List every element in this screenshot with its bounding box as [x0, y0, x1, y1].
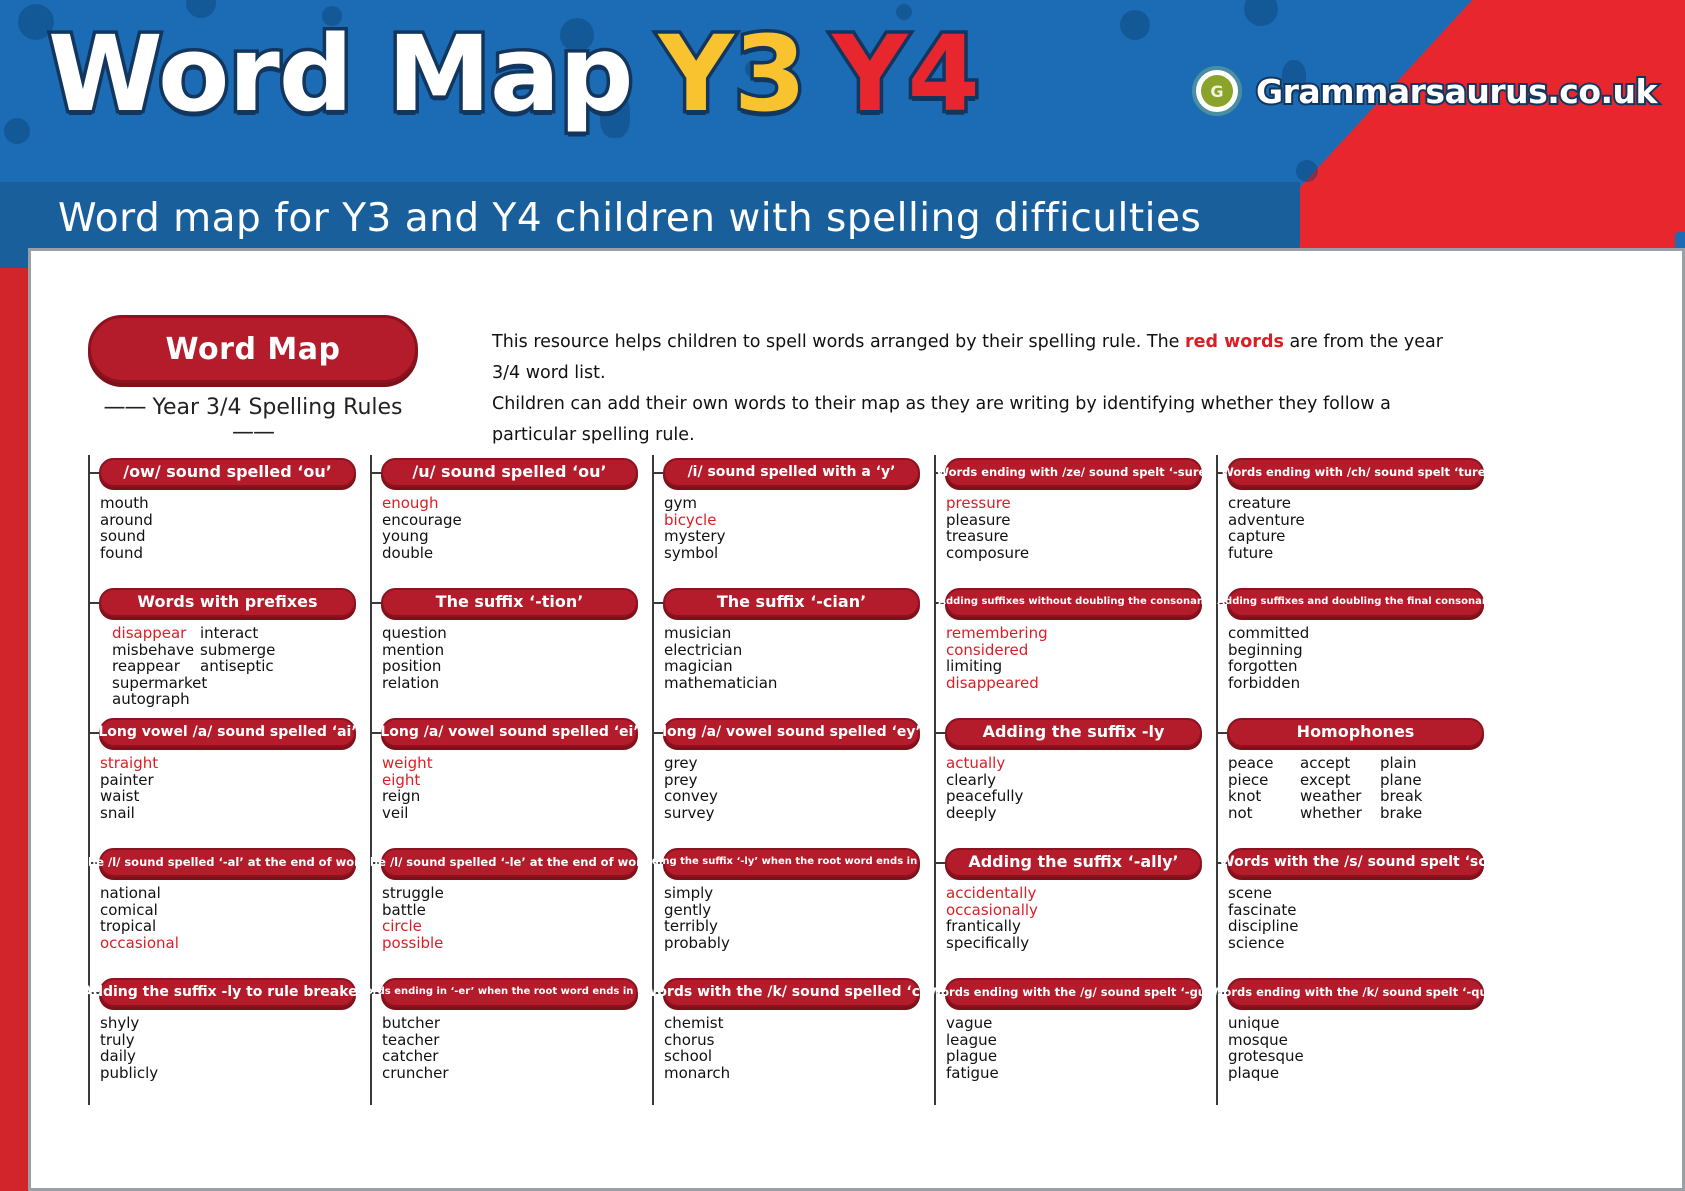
- word-item: mention: [382, 642, 638, 659]
- rule-card[interactable]: The /l/ sound spelled ‘-al’ at the end o…: [88, 845, 356, 975]
- word-item: weight: [382, 755, 638, 772]
- card-vertical-rule: [370, 715, 372, 845]
- rule-title-pill[interactable]: The /l/ sound spelled ‘-le’ at the end o…: [381, 848, 638, 877]
- word-item: symbol: [664, 545, 920, 562]
- rule-card[interactable]: /u/ sound spelled ‘ou’enoughencourageyou…: [370, 455, 638, 585]
- rule-title-pill[interactable]: Adding the suffix ‘-ly’ when the root wo…: [663, 848, 920, 877]
- rule-title-pill[interactable]: Words with the /k/ sound spelled ‘ch.’: [663, 978, 920, 1007]
- rule-title-label: Words with prefixes: [137, 594, 317, 611]
- word-item: teacher: [382, 1032, 638, 1049]
- rule-row: Long vowel /a/ sound spelled ‘ai’straigh…: [88, 715, 1488, 845]
- word-item: plaque: [1228, 1065, 1484, 1082]
- word-list: nationalcomicaltropicaloccasional: [100, 885, 356, 951]
- rule-card[interactable]: Words with the /s/ sound spelt ‘sc’scene…: [1216, 845, 1484, 975]
- rule-title-pill[interactable]: /i/ sound spelled with a ‘y’: [663, 458, 920, 487]
- word-item: grotesque: [1228, 1048, 1484, 1065]
- rule-title-pill[interactable]: Words ending in ‘-er’ when the root word…: [381, 978, 638, 1007]
- rule-card[interactable]: Adding the suffix ‘-ally’accidentallyocc…: [934, 845, 1202, 975]
- rule-card[interactable]: The suffix ‘-cian’musicianelectricianmag…: [652, 585, 920, 715]
- rule-title-pill[interactable]: Adding suffixes without doubling the con…: [945, 588, 1202, 617]
- word-map-badge-label: Word Map: [166, 332, 341, 367]
- intro-paragraph: This resource helps children to spell wo…: [492, 327, 1452, 451]
- caption-dash-right: ——: [232, 420, 274, 445]
- word-item: plain: [1380, 755, 1450, 772]
- word-item: question: [382, 625, 638, 642]
- word-item: comical: [100, 902, 356, 919]
- card-vertical-rule: [370, 585, 372, 715]
- poster-subtitle: Word map for Y3 and Y4 children with spe…: [58, 196, 1201, 241]
- rule-card[interactable]: Adding the suffix ‘-ly’ when the root wo…: [652, 845, 920, 975]
- word-item: plague: [946, 1048, 1202, 1065]
- word-item: not: [1228, 805, 1296, 822]
- rule-title-pill[interactable]: /ow/ sound spelled ‘ou’: [99, 458, 356, 487]
- rule-title-pill[interactable]: Words with prefixes: [99, 588, 356, 617]
- rule-title-pill[interactable]: Words with the /s/ sound spelt ‘sc’: [1227, 848, 1484, 877]
- word-item: disappeared: [946, 675, 1202, 692]
- word-list: enoughencourageyoungdouble: [382, 495, 638, 561]
- rule-title-label: Long /a/ vowel sound spelled ‘ei’: [380, 725, 638, 740]
- rule-title-pill[interactable]: Adding the suffix -ly to rule breakers: [99, 978, 356, 1007]
- rule-card[interactable]: Adding suffixes and doubling the final c…: [1216, 585, 1484, 715]
- rule-title-pill[interactable]: Long /a/ vowel sound spelled ‘ei’: [381, 718, 638, 747]
- word-list: questionmentionpositionrelation: [382, 625, 638, 691]
- word-list: moutharoundsoundfound: [100, 495, 356, 561]
- word-item: pressure: [946, 495, 1202, 512]
- word-item: fatigue: [946, 1065, 1202, 1082]
- card-vertical-rule: [934, 845, 936, 975]
- rule-title-label: Adding suffixes and doubling the final c…: [1217, 597, 1493, 608]
- word-item: daily: [100, 1048, 356, 1065]
- word-item: mathematician: [664, 675, 920, 692]
- word-item: piece: [1228, 772, 1296, 789]
- rule-title-pill[interactable]: Words ending with /ze/ sound spelt ‘-sur…: [945, 458, 1202, 487]
- word-item: beginning: [1228, 642, 1484, 659]
- word-item: shyly: [100, 1015, 356, 1032]
- word-item: veil: [382, 805, 638, 822]
- word-item: reappear: [112, 658, 196, 675]
- word-list: committedbeginningforgottenforbidden: [1228, 625, 1484, 691]
- word-item: struggle: [382, 885, 638, 902]
- word-item: accept: [1300, 755, 1376, 772]
- word-item: considered: [946, 642, 1202, 659]
- grammarsaurus-icon: G: [1192, 66, 1242, 116]
- rule-title-pill[interactable]: The suffix ‘-cian’: [663, 588, 920, 617]
- intro-line-1: This resource helps children to spell wo…: [492, 327, 1452, 389]
- rule-card[interactable]: Adding the suffix -lyactuallyclearlypeac…: [934, 715, 1202, 845]
- year-rules-caption: —— Year 3/4 Spelling Rules ——: [88, 395, 418, 445]
- rule-title-label: The /l/ sound spelled ‘-al’ at the end o…: [80, 856, 375, 868]
- word-item: catcher: [382, 1048, 638, 1065]
- rule-title-pill[interactable]: The /l/ sound spelled ‘-al’ at the end o…: [99, 848, 356, 877]
- title-y4: Y4: [832, 22, 980, 126]
- word-item: accidentally: [946, 885, 1202, 902]
- rule-title-label: long /a/ vowel sound spelled ‘ey’: [662, 725, 921, 740]
- word-item: treasure: [946, 528, 1202, 545]
- header-banner: Word Map Y3 Y4 Word map for Y3 and Y4 ch…: [0, 0, 1685, 268]
- word-list: pressurepleasuretreasurecomposure: [946, 495, 1202, 561]
- rule-card[interactable]: /ow/ sound spelled ‘ou’moutharoundsoundf…: [88, 455, 356, 585]
- word-item: specifically: [946, 935, 1202, 952]
- word-item: mouth: [100, 495, 356, 512]
- card-vertical-rule: [934, 715, 936, 845]
- spelling-rule-grid: /ow/ sound spelled ‘ou’moutharoundsoundf…: [88, 455, 1488, 1105]
- word-item: scene: [1228, 885, 1484, 902]
- word-item: encourage: [382, 512, 638, 529]
- word-list: simplygentlyterriblyprobably: [664, 885, 920, 951]
- rule-card[interactable]: Words ending in ‘-er’ when the root word…: [370, 975, 638, 1105]
- card-vertical-rule: [88, 585, 90, 715]
- word-item: tropical: [100, 918, 356, 935]
- word-item: straight: [100, 755, 356, 772]
- intro-line-2: Children can add their own words to thei…: [492, 389, 1452, 451]
- word-item: prey: [664, 772, 920, 789]
- word-map-badge: Word Map: [88, 315, 418, 383]
- word-list: disappearinteractmisbehavesubmergereappe…: [112, 625, 368, 708]
- rule-title-label: Words ending with the /k/ sound spelt ‘-…: [1211, 986, 1500, 998]
- word-item: except: [1300, 772, 1376, 789]
- word-item: break: [1380, 788, 1450, 805]
- rule-title-pill[interactable]: Homophones: [1227, 718, 1484, 747]
- word-item: remembering: [946, 625, 1202, 642]
- rule-title-pill[interactable]: Adding the suffix ‘-ally’: [945, 848, 1202, 877]
- word-item: cruncher: [382, 1065, 638, 1082]
- word-item: knot: [1228, 788, 1296, 805]
- word-item: fascinate: [1228, 902, 1484, 919]
- word-item: convey: [664, 788, 920, 805]
- rule-title-label: Adding the suffix ‘-ly’ when the root wo…: [637, 857, 946, 868]
- word-list: accidentallyoccasionallyfranticallyspeci…: [946, 885, 1202, 951]
- word-item: capture: [1228, 528, 1484, 545]
- rule-title-label: Homophones: [1297, 724, 1415, 741]
- word-item: electrician: [664, 642, 920, 659]
- intro-line-1-a: This resource helps children to spell wo…: [492, 332, 1185, 352]
- word-list: greypreyconveysurvey: [664, 755, 920, 821]
- rule-row: Words with prefixesdisappearinteractmisb…: [88, 585, 1488, 715]
- rule-title-pill[interactable]: Words ending with /ch/ sound spelt ‘ture…: [1227, 458, 1484, 487]
- word-item: antiseptic: [200, 658, 284, 675]
- word-list: straightpainterwaistsnail: [100, 755, 356, 821]
- word-item: butcher: [382, 1015, 638, 1032]
- left-nub-2: [37, 931, 53, 947]
- rule-card[interactable]: Long vowel /a/ sound spelled ‘ai’straigh…: [88, 715, 356, 845]
- poster-title: Word Map Y3 Y4: [48, 22, 980, 126]
- rule-title-pill[interactable]: long /a/ vowel sound spelled ‘ey’: [663, 718, 920, 747]
- word-item: submerge: [200, 642, 284, 659]
- poster-root: Word Map Y3 Y4 Word map for Y3 and Y4 ch…: [0, 0, 1685, 1191]
- word-item: circle: [382, 918, 638, 935]
- caption-dash-left: ——: [103, 395, 145, 420]
- word-item: composure: [946, 545, 1202, 562]
- rule-title-pill[interactable]: Long vowel /a/ sound spelled ‘ai’: [99, 718, 356, 747]
- word-item: survey: [664, 805, 920, 822]
- word-item: autograph: [112, 691, 196, 708]
- word-item: whether: [1300, 805, 1376, 822]
- rule-title-label: The suffix ‘-tion’: [436, 594, 584, 611]
- rule-card[interactable]: Words with the /k/ sound spelled ‘ch.’ch…: [652, 975, 920, 1105]
- rule-card[interactable]: Words ending with the /g/ sound spelt ‘-…: [934, 975, 1202, 1105]
- word-item: disappear: [112, 625, 196, 642]
- card-vertical-rule: [88, 455, 90, 585]
- word-list: gymbicyclemysterysymbol: [664, 495, 920, 561]
- rule-card[interactable]: Words ending with the /k/ sound spelt ‘-…: [1216, 975, 1484, 1105]
- word-item: battle: [382, 902, 638, 919]
- word-item: snail: [100, 805, 356, 822]
- word-item: brake: [1380, 805, 1450, 822]
- word-item: vague: [946, 1015, 1202, 1032]
- word-item: forbidden: [1228, 675, 1484, 692]
- brand-name: Grammarsaurus.co.uk: [1256, 72, 1657, 111]
- card-vertical-rule: [1216, 715, 1218, 845]
- word-item: around: [100, 512, 356, 529]
- word-item: frantically: [946, 918, 1202, 935]
- word-item: supermarket: [112, 675, 196, 692]
- card-vertical-rule: [1216, 845, 1218, 975]
- word-item: [200, 691, 284, 708]
- rule-title-pill[interactable]: /u/ sound spelled ‘ou’: [381, 458, 638, 487]
- rule-title-label: Words ending in ‘-er’ when the root word…: [355, 987, 664, 998]
- word-item: future: [1228, 545, 1484, 562]
- word-item: monarch: [664, 1065, 920, 1082]
- word-item: discipline: [1228, 918, 1484, 935]
- word-list: peacepieceknotnotacceptexceptweatherwhet…: [1228, 755, 1484, 821]
- word-list: chemistchorusschoolmonarch: [664, 1015, 920, 1081]
- word-list: butcherteachercatchercruncher: [382, 1015, 638, 1081]
- rule-title-label: Words ending with the /g/ sound spelt ‘-…: [929, 986, 1218, 998]
- word-item: league: [946, 1032, 1202, 1049]
- word-list: uniquemosquegrotesqueplaque: [1228, 1015, 1484, 1081]
- rule-card[interactable]: Long /a/ vowel sound spelled ‘ei’weighte…: [370, 715, 638, 845]
- word-item: found: [100, 545, 356, 562]
- rule-title-label: Words with the /s/ sound spelt ‘sc’: [1219, 855, 1492, 870]
- word-item: double: [382, 545, 638, 562]
- word-item: limiting: [946, 658, 1202, 675]
- word-item: painter: [100, 772, 356, 789]
- word-item: possible: [382, 935, 638, 952]
- word-item: mystery: [664, 528, 920, 545]
- word-list: weighteightreignveil: [382, 755, 638, 821]
- word-item: peace: [1228, 755, 1296, 772]
- word-item: peacefully: [946, 788, 1202, 805]
- rule-card[interactable]: Adding suffixes without doubling the con…: [934, 585, 1202, 715]
- left-nub-3: [37, 957, 53, 973]
- word-item: actually: [946, 755, 1202, 772]
- word-item: terribly: [664, 918, 920, 935]
- left-nub-1: [37, 377, 53, 393]
- rule-title-pill[interactable]: The suffix ‘-tion’: [381, 588, 638, 617]
- rule-title-label: Words ending with /ch/ sound spelt ‘ture…: [1221, 466, 1490, 478]
- word-list: vagueleagueplaguefatigue: [946, 1015, 1202, 1081]
- word-item: national: [100, 885, 356, 902]
- rule-title-label: Adding the suffix -ly: [983, 724, 1165, 741]
- rule-card[interactable]: Words ending with /ze/ sound spelt ‘-sur…: [934, 455, 1202, 585]
- word-item: pleasure: [946, 512, 1202, 529]
- word-list: rememberingconsideredlimitingdisappeared: [946, 625, 1202, 691]
- card-vertical-rule: [652, 455, 654, 585]
- word-item: waist: [100, 788, 356, 805]
- word-list: actuallyclearlypeacefullydeeply: [946, 755, 1202, 821]
- rule-title-label: Long vowel /a/ sound spelled ‘ai’: [98, 725, 356, 740]
- word-item: young: [382, 528, 638, 545]
- word-item: sound: [100, 528, 356, 545]
- rule-row: /ow/ sound spelled ‘ou’moutharoundsoundf…: [88, 455, 1488, 585]
- word-item: creature: [1228, 495, 1484, 512]
- rule-title-label: Words ending with /ze/ sound spelt ‘-sur…: [936, 466, 1210, 478]
- caption-text: Year 3/4 Spelling Rules: [152, 395, 402, 420]
- word-item: probably: [664, 935, 920, 952]
- brand-logo-group: G Grammarsaurus.co.uk: [1192, 66, 1657, 116]
- word-item: misbehave: [112, 642, 196, 659]
- card-vertical-rule: [652, 585, 654, 715]
- word-item: deeply: [946, 805, 1202, 822]
- rule-title-label: /u/ sound spelled ‘ou’: [412, 464, 606, 481]
- word-item: clearly: [946, 772, 1202, 789]
- word-item: unique: [1228, 1015, 1484, 1032]
- word-list: musicianelectricianmagicianmathematician: [664, 625, 920, 691]
- word-item: interact: [200, 625, 284, 642]
- rule-title-label: /ow/ sound spelled ‘ou’: [123, 464, 332, 481]
- rule-card[interactable]: The suffix ‘-tion’questionmentionpositio…: [370, 585, 638, 715]
- rule-card[interactable]: Adding the suffix -ly to rule breakerssh…: [88, 975, 356, 1105]
- word-item: committed: [1228, 625, 1484, 642]
- rule-title-label: /i/ sound spelled with a ‘y’: [688, 465, 896, 480]
- rule-title-label: The /l/ sound spelled ‘-le’ at the end o…: [362, 856, 657, 868]
- word-item: grey: [664, 755, 920, 772]
- rule-title-label: Adding the suffix ‘-ally’: [968, 854, 1178, 871]
- word-item: reign: [382, 788, 638, 805]
- word-item: chemist: [664, 1015, 920, 1032]
- rule-card[interactable]: Homophonespeacepieceknotnotacceptexceptw…: [1216, 715, 1484, 845]
- rule-title-pill[interactable]: Words ending with the /g/ sound spelt ‘-…: [945, 978, 1202, 1007]
- rule-title-label: The suffix ‘-cian’: [717, 594, 866, 611]
- card-vertical-rule: [370, 455, 372, 585]
- card-vertical-rule: [1216, 455, 1218, 585]
- word-item: occasionally: [946, 902, 1202, 919]
- word-item: truly: [100, 1032, 356, 1049]
- rule-card[interactable]: The /l/ sound spelled ‘-le’ at the end o…: [370, 845, 638, 975]
- word-list: creatureadventurecapturefuture: [1228, 495, 1484, 561]
- word-item: school: [664, 1048, 920, 1065]
- word-item: position: [382, 658, 638, 675]
- word-item: forgotten: [1228, 658, 1484, 675]
- rule-card[interactable]: Words with prefixesdisappearinteractmisb…: [88, 585, 356, 715]
- word-list: strugglebattlecirclepossible: [382, 885, 638, 951]
- rule-title-pill[interactable]: Adding suffixes and doubling the final c…: [1227, 588, 1484, 617]
- word-item: adventure: [1228, 512, 1484, 529]
- rule-title-label: Adding the suffix -ly to rule breakers: [82, 985, 373, 1000]
- rule-title-pill[interactable]: Adding the suffix -ly: [945, 718, 1202, 747]
- rule-row: Adding the suffix -ly to rule breakerssh…: [88, 975, 1488, 1105]
- rule-card[interactable]: long /a/ vowel sound spelled ‘ey’greypre…: [652, 715, 920, 845]
- word-item: plane: [1380, 772, 1450, 789]
- word-item: eight: [382, 772, 638, 789]
- word-list: shylytrulydailypublicly: [100, 1015, 356, 1081]
- intro-red-words: red words: [1185, 332, 1284, 352]
- rule-title-label: Words with the /k/ sound spelled ‘ch.’: [642, 985, 940, 1000]
- card-vertical-rule: [652, 715, 654, 845]
- rule-card[interactable]: /i/ sound spelled with a ‘y’gymbicyclemy…: [652, 455, 920, 585]
- worksheet-sheet: Word Map —— Year 3/4 Spelling Rules —— T…: [28, 248, 1685, 1191]
- word-list: scenefascinatedisciplinescience: [1228, 885, 1484, 951]
- word-item: bicycle: [664, 512, 920, 529]
- card-vertical-rule: [88, 715, 90, 845]
- word-item: science: [1228, 935, 1484, 952]
- rule-title-pill[interactable]: Words ending with the /k/ sound spelt ‘-…: [1227, 978, 1484, 1007]
- word-item: chorus: [664, 1032, 920, 1049]
- word-item: simply: [664, 885, 920, 902]
- word-item: enough: [382, 495, 638, 512]
- rule-row: The /l/ sound spelled ‘-al’ at the end o…: [88, 845, 1488, 975]
- word-item: relation: [382, 675, 638, 692]
- rule-title-label: Adding suffixes without doubling the con…: [938, 597, 1209, 608]
- word-item: [200, 675, 284, 692]
- word-item: publicly: [100, 1065, 356, 1082]
- word-item: gym: [664, 495, 920, 512]
- word-item: musician: [664, 625, 920, 642]
- title-word-map: Word Map: [48, 22, 633, 126]
- word-item: occasional: [100, 935, 356, 952]
- card-vertical-rule: [934, 585, 936, 715]
- word-item: gently: [664, 902, 920, 919]
- word-item: weather: [1300, 788, 1376, 805]
- title-y3: Y3: [659, 22, 807, 126]
- brand-logo-letter: G: [1201, 75, 1233, 107]
- word-item: mosque: [1228, 1032, 1484, 1049]
- rule-card[interactable]: Words ending with /ch/ sound spelt ‘ture…: [1216, 455, 1484, 585]
- word-item: magician: [664, 658, 920, 675]
